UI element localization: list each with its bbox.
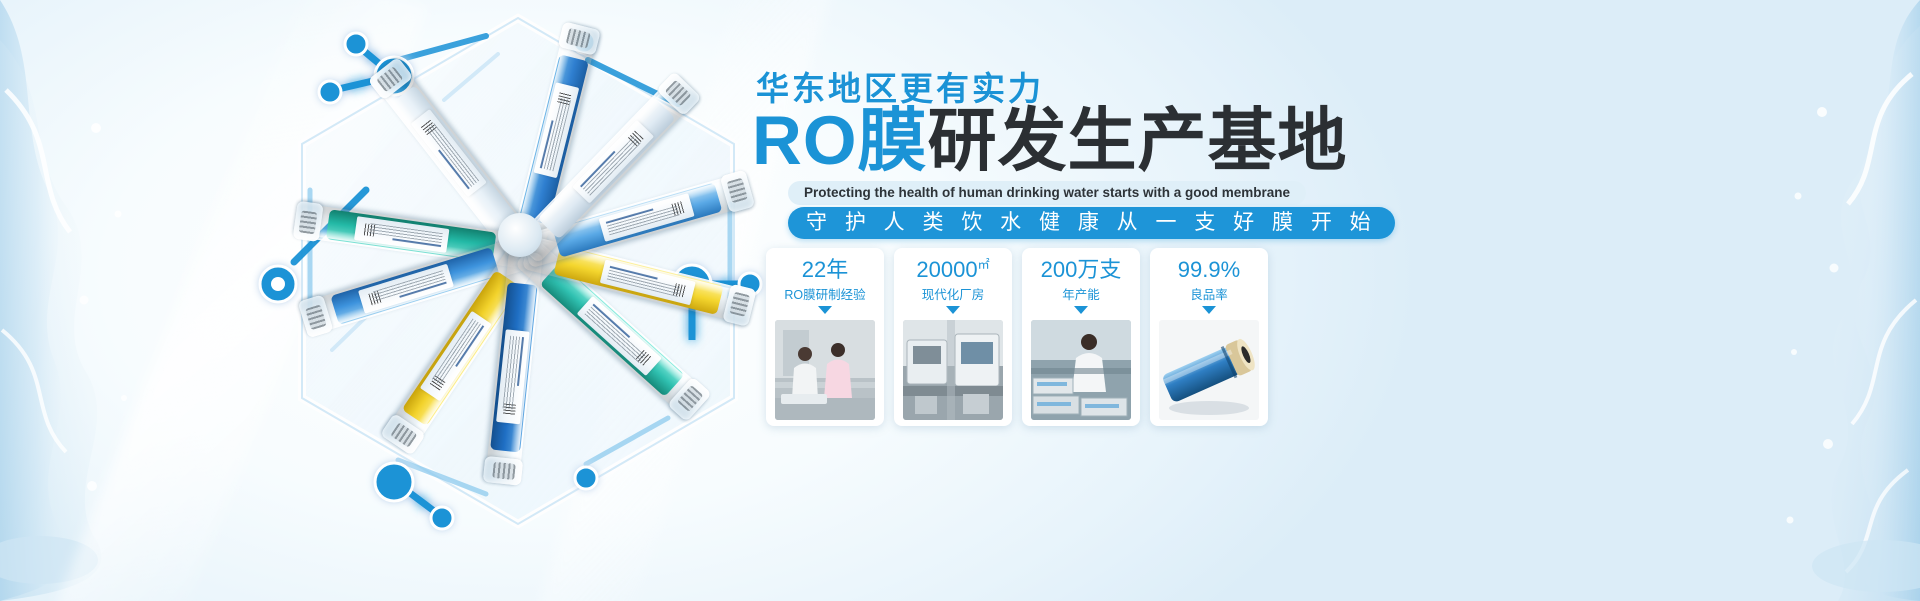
stat-card[interactable]: 99.9% 良品率 [1150, 248, 1268, 426]
headline-blue-part: RO膜 [752, 102, 928, 179]
stat-number: 20000㎡ [916, 258, 989, 282]
triangle-down-icon [1202, 306, 1216, 314]
triangle-down-icon [818, 306, 832, 314]
stat-label: 年产能 [1062, 284, 1100, 303]
stat-card[interactable]: 20000㎡ 现代化厂房 [894, 248, 1012, 426]
page-title: RO膜研发生产基地 [752, 106, 1348, 175]
pinwheel-hub [498, 213, 542, 257]
tagline-chinese: 守 护 人 类 饮 水 健 康 从 一 支 好 膜 开 始 [788, 207, 1395, 239]
stat-number: 200万支 [1041, 258, 1122, 282]
membrane-filter-pinwheel [300, 10, 740, 460]
stat-label: RO膜研制经验 [784, 284, 865, 303]
stat-number: 22年 [802, 258, 848, 282]
stat-card-list: 22年 RO膜研制经验 [766, 248, 1268, 426]
stat-number-unit: ㎡ [978, 258, 990, 272]
stat-card[interactable]: 22年 RO膜研制经验 [766, 248, 884, 426]
ro-membrane-banner: 华东地区更有实力 RO膜研发生产基地 Protecting the health… [0, 0, 1920, 601]
banner-content: 华东地区更有实力 RO膜研发生产基地 Protecting the health… [752, 0, 1920, 601]
worker-packing-photo [1031, 320, 1131, 420]
stat-label: 良品率 [1190, 284, 1228, 303]
stat-number-value: 20000 [916, 257, 977, 282]
ro-membrane-element-photo [1159, 320, 1259, 420]
stat-card[interactable]: 200万支 年产能 [1022, 248, 1140, 426]
stat-label: 现代化厂房 [922, 284, 985, 303]
cleanroom-workers-photo [775, 320, 875, 420]
triangle-down-icon [946, 306, 960, 314]
molecule-node-bottom-right [575, 467, 597, 489]
factory-machines-photo [903, 320, 1003, 420]
headline-dark-part: 研发生产基地 [928, 102, 1348, 179]
tagline-english: Protecting the health of human drinking … [788, 181, 1306, 205]
water-splash-left [0, 0, 250, 601]
stat-number: 99.9% [1178, 258, 1240, 282]
molecule-node-left-ring [260, 266, 296, 302]
triangle-down-icon [1074, 306, 1088, 314]
